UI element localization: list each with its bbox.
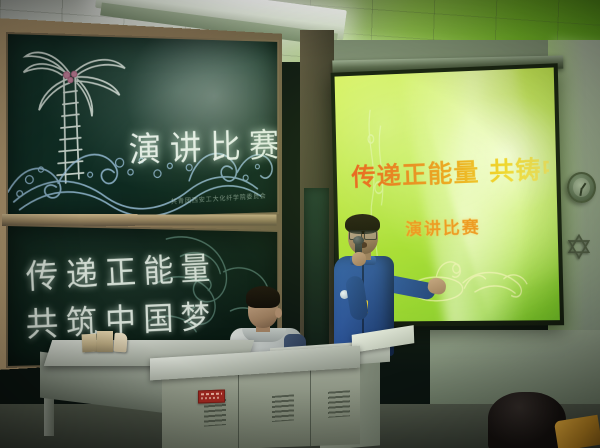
student-hair — [246, 286, 280, 308]
blackboard-headline: 演讲比赛 — [128, 118, 279, 172]
blackboard-top-panel: 演讲比赛 共青团西安工大化纤学院委员会 — [6, 32, 279, 222]
audience-member-head — [488, 392, 566, 448]
box-3 — [113, 333, 127, 353]
console-seam-2 — [310, 366, 311, 446]
microphone-head — [353, 236, 364, 245]
wall-clock-icon — [567, 172, 596, 203]
console-vent-2 — [272, 394, 294, 422]
console-vent-3 — [328, 390, 350, 418]
red-warning-sticker — [198, 390, 225, 404]
box-2 — [97, 331, 113, 352]
star-decoration-icon: ✡ — [563, 232, 595, 264]
box-1 — [82, 334, 98, 353]
audience-member-collar — [554, 415, 600, 448]
classroom-scene: ✡ — [0, 0, 600, 448]
cardboard-boxes — [82, 330, 134, 352]
student-ear — [275, 308, 282, 318]
console-seam-1 — [238, 369, 239, 448]
speaker-left-hand — [352, 252, 366, 266]
